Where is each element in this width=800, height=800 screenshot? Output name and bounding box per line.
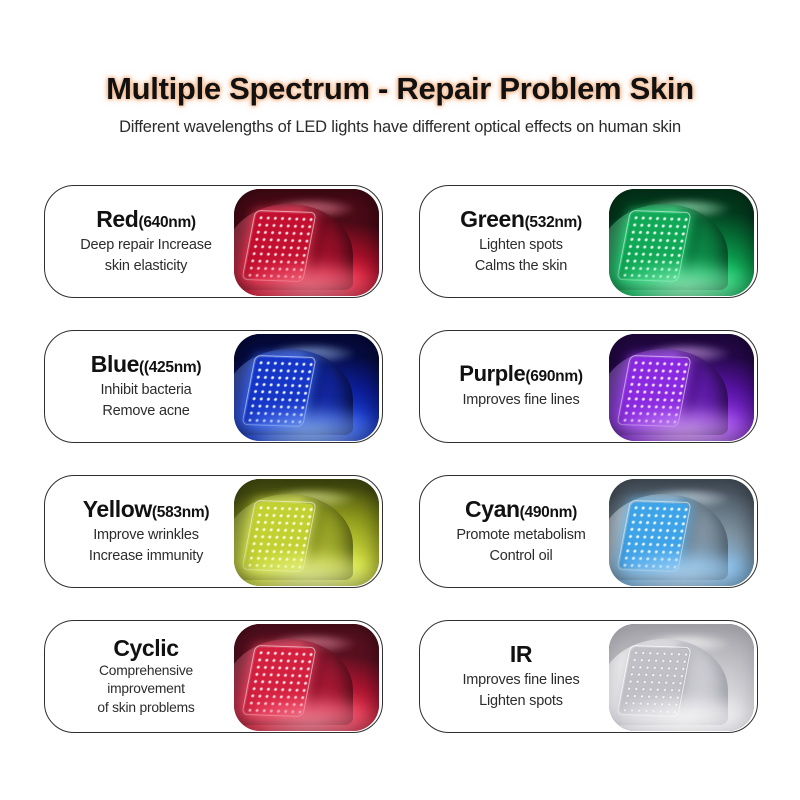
card-text-cyclic: Cyclic Comprehensive improvement of skin…: [45, 636, 241, 717]
card-text-cyan: Cyan(490nm) Promote metabolism Control o…: [420, 497, 616, 567]
card-text-purple: Purple(690nm) Improves fine lines: [420, 362, 616, 410]
card-desc-red: Deep repair Increase skin elasticity: [51, 235, 241, 276]
device-photo-cyclic: [234, 624, 379, 731]
spectrum-card-yellow[interactable]: Yellow(583nm) Improve wrinkles Increase …: [44, 475, 383, 588]
card-text-yellow: Yellow(583nm) Improve wrinkles Increase …: [45, 497, 241, 567]
desc-line: of skin problems: [51, 699, 241, 717]
desc-line: Calms the skin: [426, 256, 616, 277]
infographic-page: Multiple Spectrum - Repair Problem Skin …: [0, 0, 800, 800]
desc-line: improvement: [51, 680, 241, 698]
card-text-green: Green(532nm) Lighten spots Calms the ski…: [420, 207, 616, 277]
desc-line: Improves fine lines: [426, 390, 616, 411]
desc-line: Inhibit bacteria: [51, 380, 241, 401]
wavelength-red: (640nm): [138, 214, 195, 231]
header: Multiple Spectrum - Repair Problem Skin …: [0, 72, 800, 137]
wavelength-purple: (690nm): [525, 368, 582, 385]
page-title: Multiple Spectrum - Repair Problem Skin: [0, 72, 800, 106]
desc-line: Control oil: [426, 546, 616, 567]
spectrum-card-ir[interactable]: IR Improves fine lines Lighten spots: [419, 620, 758, 733]
device-photo-red: [234, 189, 379, 296]
spectrum-card-cyan[interactable]: Cyan(490nm) Promote metabolism Control o…: [419, 475, 758, 588]
spectrum-card-purple[interactable]: Purple(690nm) Improves fine lines: [419, 330, 758, 443]
wavelength-yellow: (583nm): [152, 504, 209, 521]
spectrum-card-blue[interactable]: Blue((425nm) Inhibit bacteria Remove acn…: [44, 330, 383, 443]
desc-line: Increase immunity: [51, 546, 241, 567]
desc-line: Lighten spots: [426, 235, 616, 256]
card-text-blue: Blue((425nm) Inhibit bacteria Remove acn…: [45, 352, 241, 422]
card-desc-ir: Improves fine lines Lighten spots: [426, 670, 616, 711]
device-photo-blue: [234, 334, 379, 441]
desc-line: Lighten spots: [426, 691, 616, 712]
desc-line: skin elasticity: [51, 256, 241, 277]
color-name-cyan: Cyan: [465, 496, 520, 522]
card-desc-yellow: Improve wrinkles Increase immunity: [51, 525, 241, 566]
spectrum-card-red[interactable]: Red(640nm) Deep repair Increase skin ela…: [44, 185, 383, 298]
card-heading-purple: Purple(690nm): [426, 362, 616, 386]
card-text-red: Red(640nm) Deep repair Increase skin ela…: [45, 207, 241, 277]
device-photo-purple: [609, 334, 754, 441]
device-photo-cyan: [609, 479, 754, 586]
desc-line: Improve wrinkles: [51, 525, 241, 546]
color-name-red: Red: [96, 206, 138, 232]
desc-line: Promote metabolism: [426, 525, 616, 546]
wavelength-blue: ((425nm): [139, 359, 201, 376]
color-name-ir: IR: [510, 641, 532, 667]
card-heading-green: Green(532nm): [426, 207, 616, 232]
color-name-purple: Purple: [459, 361, 525, 386]
color-name-yellow: Yellow: [83, 496, 152, 522]
color-name-green: Green: [460, 206, 524, 232]
desc-line: Deep repair Increase: [51, 235, 241, 256]
wavelength-cyan: (490nm): [520, 504, 577, 521]
device-photo-green: [609, 189, 754, 296]
card-heading-yellow: Yellow(583nm): [51, 497, 241, 522]
desc-line: Remove acne: [51, 401, 241, 422]
device-photo-yellow: [234, 479, 379, 586]
card-desc-cyclic: Comprehensive improvement of skin proble…: [51, 662, 241, 717]
card-heading-blue: Blue((425nm): [51, 352, 241, 377]
color-name-cyclic: Cyclic: [113, 635, 178, 661]
card-desc-blue: Inhibit bacteria Remove acne: [51, 380, 241, 421]
card-heading-red: Red(640nm): [51, 207, 241, 232]
device-photo-ir: [609, 624, 754, 731]
card-heading-cyan: Cyan(490nm): [426, 497, 616, 522]
page-subtitle: Different wavelengths of LED lights have…: [0, 118, 800, 137]
card-desc-cyan: Promote metabolism Control oil: [426, 525, 616, 566]
card-desc-purple: Improves fine lines: [426, 390, 616, 411]
wavelength-green: (532nm): [525, 214, 582, 231]
spectrum-card-green[interactable]: Green(532nm) Lighten spots Calms the ski…: [419, 185, 758, 298]
desc-line: Improves fine lines: [426, 670, 616, 691]
color-name-blue: Blue: [91, 351, 139, 377]
spectrum-card-grid: Red(640nm) Deep repair Increase skin ela…: [44, 185, 758, 733]
card-text-ir: IR Improves fine lines Lighten spots: [420, 642, 616, 712]
desc-line: Comprehensive: [51, 662, 241, 680]
card-heading-ir: IR: [426, 642, 616, 667]
card-heading-cyclic: Cyclic: [51, 636, 241, 661]
card-desc-green: Lighten spots Calms the skin: [426, 235, 616, 276]
spectrum-card-cyclic[interactable]: Cyclic Comprehensive improvement of skin…: [44, 620, 383, 733]
